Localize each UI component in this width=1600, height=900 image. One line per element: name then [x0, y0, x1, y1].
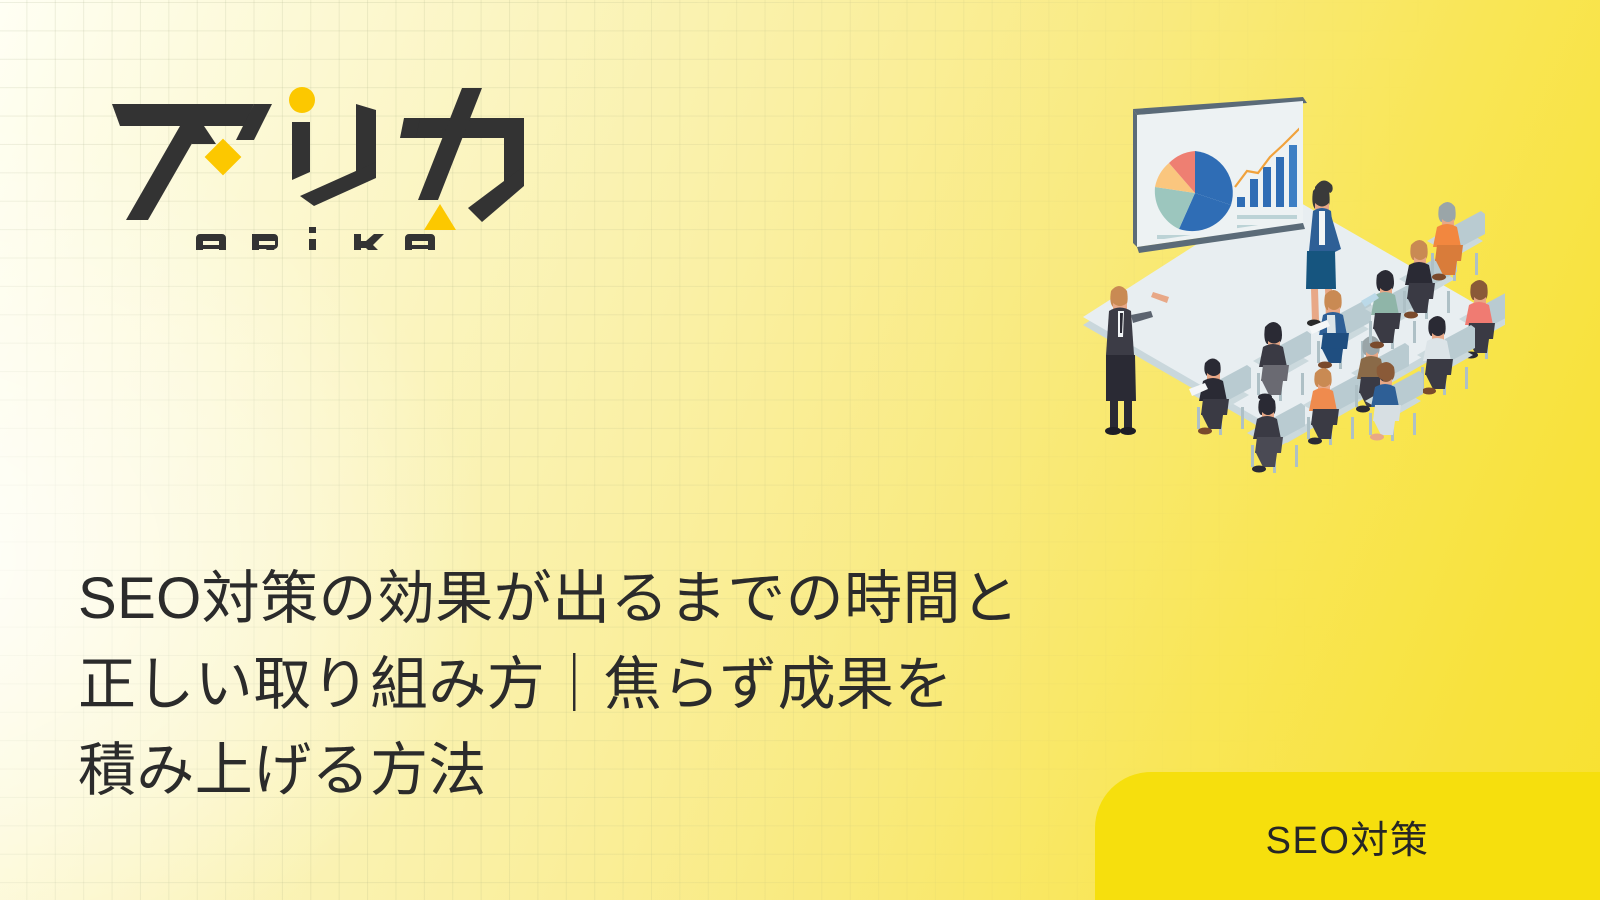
category-badge-label: SEO対策 [1266, 809, 1430, 864]
logo-katakana-a [112, 104, 272, 220]
logo-diamond-accent [205, 139, 242, 176]
page-title: SEO対策の効果が出るまでの時間と 正しい取り組み方｜焦らず成果を 積み上げる方… [78, 556, 1288, 814]
seminar-illustration [1075, 95, 1505, 505]
illustration-screen [1133, 97, 1310, 253]
logo-katakana-ri [292, 104, 376, 206]
ogp-header-card: SEO対策の効果が出るまでの時間と 正しい取り組み方｜焦らず成果を 積み上げる方… [0, 0, 1600, 900]
site-logo[interactable] [104, 82, 534, 250]
logo-latin-wordmark [196, 227, 435, 250]
logo-katakana-ka [400, 88, 524, 222]
category-badge[interactable]: SEO対策 [1095, 772, 1600, 900]
logo-dot-accent [289, 87, 315, 113]
logo-triangle-accent [424, 204, 456, 230]
